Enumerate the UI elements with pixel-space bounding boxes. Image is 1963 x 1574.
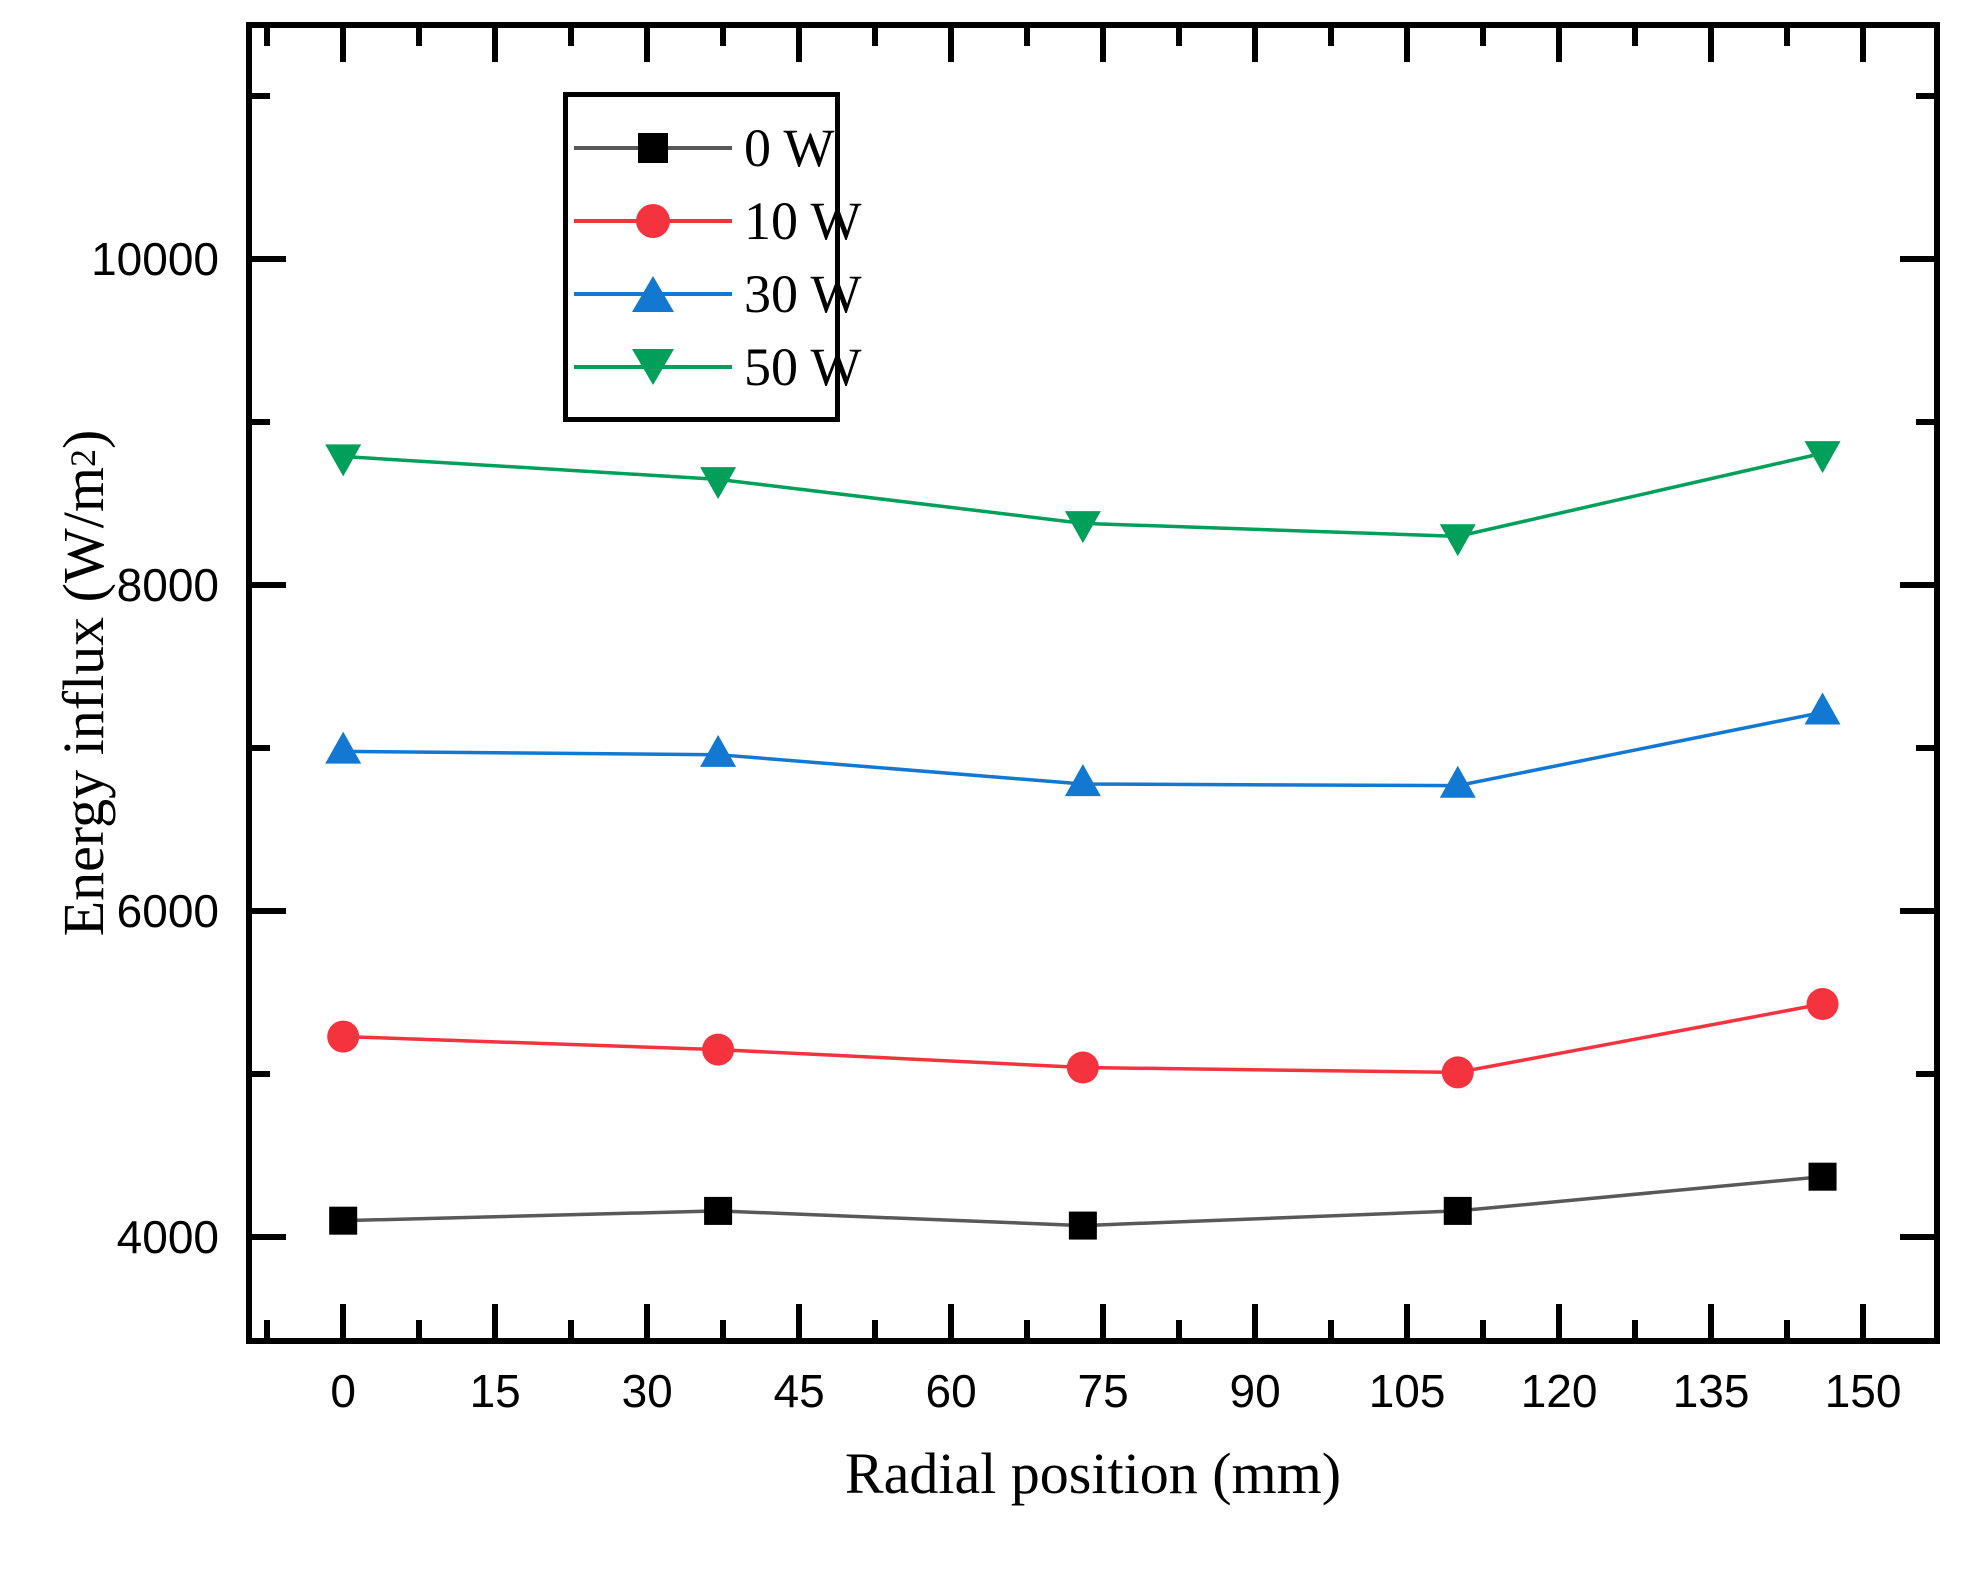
data-point-marker [1440,524,1476,556]
y-tick-label: 10000 [91,236,219,282]
x-tick-label: 15 [470,1368,521,1414]
legend-sample [574,201,732,241]
legend-label: 10 W [744,194,862,248]
y-tick-label: 8000 [117,562,219,608]
data-point-marker [327,1021,359,1053]
legend-label: 0 W [744,121,835,175]
data-point-marker [1807,988,1839,1020]
x-tick-label: 60 [926,1368,977,1414]
data-point-marker [1067,1052,1099,1084]
x-tick-label: 0 [330,1368,356,1414]
series-0-w [329,1163,1836,1240]
data-point-marker [1065,511,1101,543]
chart-legend: 0 W10 W30 W50 W [563,92,840,422]
legend-entry-0-w[interactable]: 0 W [568,111,835,184]
legend-marker-circle-icon [636,204,670,238]
x-axis-title: Radial position (mm) [246,1440,1940,1507]
data-point-marker [1444,1197,1472,1225]
y-tick-label: 6000 [117,888,219,934]
series-10-w [327,988,1838,1088]
data-point-marker [1809,1163,1837,1191]
x-tick-label: 120 [1521,1368,1598,1414]
series-layer [252,28,1934,1338]
legend-sample [574,274,732,314]
data-point-marker [700,467,736,499]
data-point-marker [325,732,361,764]
x-tick-label: 150 [1825,1368,1902,1414]
data-point-marker [1069,1212,1097,1240]
data-point-marker [700,735,736,767]
plot-area: 0 W10 W30 W50 W [246,22,1940,1344]
data-point-marker [325,444,361,476]
data-point-marker [329,1207,357,1235]
plot-canvas [252,28,1934,1338]
data-point-marker [1805,692,1841,724]
legend-entry-30-w[interactable]: 30 W [568,257,835,330]
chart-figure: Energy influx (W/m2) 40006000800010000 0… [0,0,1963,1574]
series-30-w [325,692,1840,797]
x-tick-label: 30 [622,1368,673,1414]
data-point-marker [1065,764,1101,796]
legend-label: 50 W [744,340,862,394]
legend-entry-10-w[interactable]: 10 W [568,184,835,257]
y-axis-title-exponent: 2 [62,449,104,467]
legend-marker-triangle-up-icon [632,276,674,312]
x-tick-label: 105 [1369,1368,1446,1414]
y-tick-label: 4000 [117,1214,219,1260]
y-axis-title: Energy influx (W/m2) [38,22,128,1344]
legend-sample [574,128,732,168]
legend-entry-50-w[interactable]: 50 W [568,330,835,403]
legend-sample [574,347,732,387]
y-axis-title-close: ) [50,430,117,449]
x-tick-label: 45 [774,1368,825,1414]
legend-marker-square-icon [638,133,668,163]
x-tick-label: 90 [1230,1368,1281,1414]
x-tick-label: 75 [1078,1368,1129,1414]
data-point-marker [702,1034,734,1066]
data-point-marker [704,1197,732,1225]
x-tick-label: 135 [1673,1368,1750,1414]
legend-marker-triangle-down-icon [632,349,674,385]
series-50-w [325,441,1840,556]
legend-label: 30 W [744,267,862,321]
data-point-marker [1442,1056,1474,1088]
y-axis-title-base: Energy influx (W/m [50,467,117,936]
